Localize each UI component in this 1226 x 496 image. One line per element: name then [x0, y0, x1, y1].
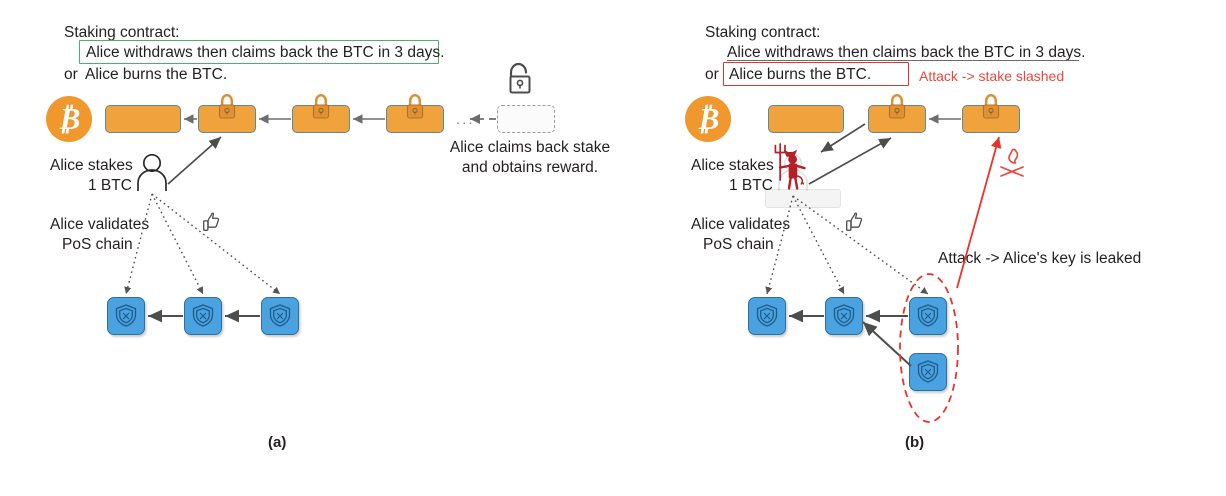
btc-block-pending [497, 105, 555, 133]
bitcoin-icon: ₿ [46, 96, 92, 142]
person-icon-a [138, 155, 166, 191]
pos-node-b-1 [748, 297, 786, 335]
panel-label-a: (a) [268, 434, 286, 451]
contract-line1-strike-b [727, 60, 1079, 61]
pos-node-b-4-fork [909, 353, 947, 391]
campfire-icon-b [1001, 149, 1023, 176]
btc-block-3 [292, 105, 350, 133]
thumbs-up-icon-b [847, 213, 862, 230]
stake-label-line2-b: 1 BTC [729, 175, 773, 196]
stake-label-line1-b: Alice stakes [691, 155, 774, 176]
btc-block-3 [962, 105, 1020, 133]
validate-label-line1-b: Alice validates [691, 214, 790, 235]
slash-annotation-b: Attack -> stake slashed [919, 66, 1064, 87]
contract-line2-prefix-b: or [705, 64, 719, 85]
attack-note-b: Attack -> Alice's key is leaked [938, 248, 1141, 269]
contract-line2-prefix-a: or [64, 64, 78, 85]
validate-label-line2-a: PoS chain [62, 234, 133, 255]
contract-line2-b: Alice burns the BTC. [729, 64, 871, 85]
person-icon-ghost-b [779, 155, 807, 191]
ghost-placeholder-b [765, 189, 841, 208]
btc-block-4 [386, 105, 444, 133]
contract-line2-a: Alice burns the BTC. [85, 64, 227, 85]
unlocked-padlock-icon-a [511, 64, 530, 93]
validate-label-line2-b: PoS chain [703, 234, 774, 255]
btc-block-2 [868, 105, 926, 133]
btc-block-1 [768, 105, 844, 133]
contract-line1-a: Alice withdraws then claims back the BTC… [86, 42, 444, 63]
panel-label-b: (b) [905, 434, 924, 451]
stake-label-line1-a: Alice stakes [50, 155, 133, 176]
pos-node-a-1 [107, 297, 145, 335]
thumbs-up-icon-a [204, 213, 219, 230]
claim-caption-line2-a: and obtains reward. [420, 157, 640, 178]
pos-node-b-3 [909, 297, 947, 335]
claim-caption-line1-a: Alice claims back stake [420, 137, 640, 158]
bitcoin-icon: ₿ [685, 96, 731, 142]
contract-title-b: Staking contract: [705, 22, 820, 43]
validate-label-line1-a: Alice validates [50, 214, 149, 235]
btc-block-1 [105, 105, 181, 133]
panel-b: Staking contract: Alice withdraws then c… [613, 0, 1226, 496]
devil-icon-b [775, 144, 804, 189]
stake-label-line2-a: 1 BTC [88, 175, 132, 196]
pos-node-a-2 [184, 297, 222, 335]
pos-node-a-3 [261, 297, 299, 335]
pos-node-b-2 [825, 297, 863, 335]
panel-a: Staking contract: Alice withdraws then c… [0, 0, 613, 496]
chain-ellipsis-a: ... [456, 109, 475, 130]
btc-block-2 [198, 105, 256, 133]
